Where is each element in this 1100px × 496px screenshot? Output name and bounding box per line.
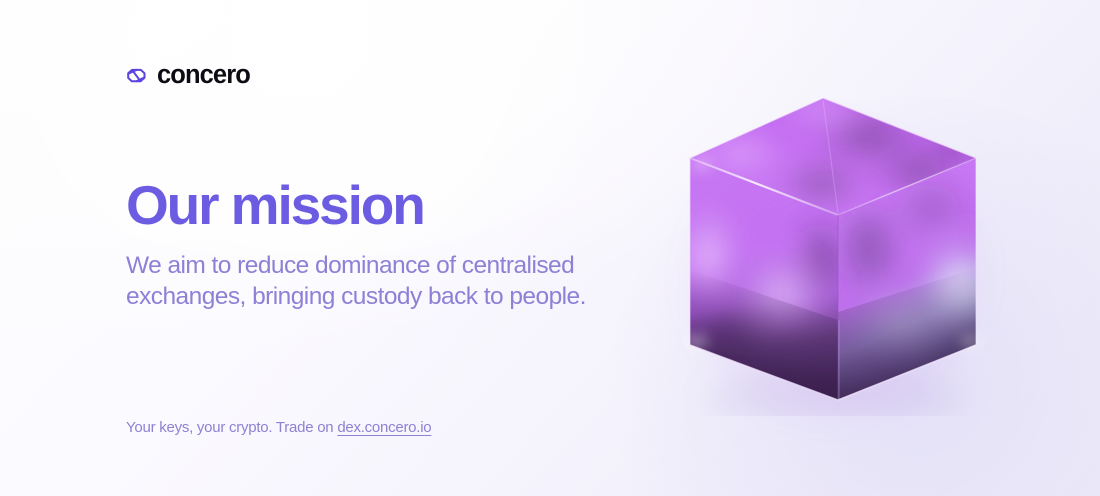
concero-hexagon-logo-icon — [126, 64, 149, 87]
hero-subtitle-line-2: exchanges, bringing custody back to peop… — [126, 281, 626, 312]
background-wash-right — [600, 96, 1100, 496]
page-title: Our mission — [126, 178, 424, 233]
hero-subtitle-line-1: We aim to reduce dominance of centralise… — [126, 250, 626, 281]
brand-wordmark: concero — [157, 63, 250, 89]
hero-subtitle: We aim to reduce dominance of centralise… — [126, 250, 626, 312]
brand-logo[interactable]: concero — [126, 63, 250, 89]
page-stage: concero Our mission We aim to reduce dom… — [0, 0, 1100, 496]
footer-tagline: Your keys, your crypto. Trade on dex.con… — [126, 418, 431, 438]
cube-ambient-glow — [680, 120, 986, 420]
footer-tagline-text: Your keys, your crypto. Trade on — [126, 419, 337, 436]
glass-cube-svg — [672, 80, 994, 416]
dex-link[interactable]: dex.concero.io — [337, 419, 431, 436]
glass-cube-graphic — [672, 80, 994, 416]
